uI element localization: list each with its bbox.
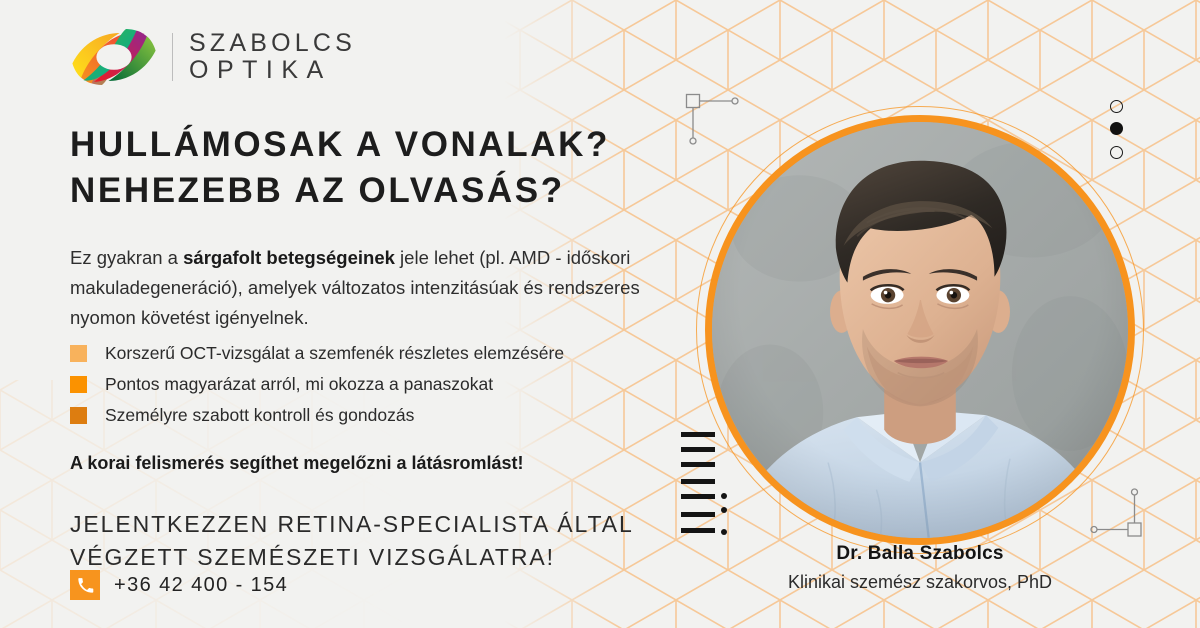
bullet-square-icon: [70, 407, 87, 424]
cta-line-2: VÉGZETT SZEMÉSZETI VIZSGÁLATRA!: [70, 541, 690, 574]
intro-text-bold: sárgafolt betegségeinek: [183, 247, 395, 268]
headline: HULLÁMOSAK A VONALAK? NEHEZEBB AZ OLVASÁ…: [70, 122, 690, 213]
list-item-label: Személyre szabott kontroll és gondozás: [105, 405, 414, 426]
list-item: Pontos magyarázat arról, mi okozza a pan…: [70, 371, 670, 397]
decorative-bar: [681, 447, 715, 452]
decorative-dot: [721, 493, 727, 499]
benefit-list: Korszerű OCT-vizsgálat a szemfenék részl…: [70, 340, 670, 433]
doctor-title: Klinikai szemész szakorvos, PhD: [705, 572, 1135, 593]
decorative-bracket-bottom: [1085, 485, 1145, 541]
logo-line-optika: OPTIKA: [189, 58, 356, 84]
banner-canvas: SZABOLCS OPTIKA HULLÁMOSAK A VONALAK? NE…: [0, 0, 1200, 628]
rainbow-eye-logo-icon: [70, 28, 158, 86]
brand-logo[interactable]: SZABOLCS OPTIKA: [70, 28, 356, 86]
decorative-circle-outline: [1110, 100, 1123, 113]
decorative-dot: [721, 507, 727, 513]
doctor-portrait: [705, 115, 1135, 545]
decorative-bar: [681, 494, 715, 499]
decorative-circle-filled: [1110, 122, 1123, 135]
early-detection-note: A korai felismerés segíthet megelőzni a …: [70, 453, 524, 474]
list-item-label: Pontos magyarázat arról, mi okozza a pan…: [105, 374, 493, 395]
headline-line-2: NEHEZEBB AZ OLVASÁS?: [70, 168, 690, 214]
headline-line-1: HULLÁMOSAK A VONALAK?: [70, 122, 690, 168]
list-item: Személyre szabott kontroll és gondozás: [70, 402, 670, 428]
list-item: Korszerű OCT-vizsgálat a szemfenék részl…: [70, 340, 670, 366]
decorative-circle-outline: [1110, 146, 1123, 159]
bullet-square-icon: [70, 376, 87, 393]
decorative-bar: [681, 432, 715, 437]
doctor-name: Dr. Balla Szabolcs: [705, 543, 1135, 565]
phone-handset-icon: [70, 570, 100, 600]
bullet-square-icon: [70, 345, 87, 362]
list-item-label: Korszerű OCT-vizsgálat a szemfenék részl…: [105, 343, 564, 364]
doctor-portrait-photo: [712, 122, 1128, 538]
decorative-bar: [681, 479, 715, 484]
intro-text-part1: Ez gyakran a: [70, 247, 183, 268]
cta-line-1: JELENTKEZZEN RETINA-SPECIALISTA ÁLTAL: [70, 508, 690, 541]
decorative-bar: [681, 512, 715, 517]
decorative-circles: [1110, 100, 1130, 168]
intro-paragraph: Ez gyakran a sárgafolt betegségeinek jel…: [70, 243, 650, 333]
phone-contact[interactable]: +36 42 400 - 154: [70, 570, 288, 600]
logo-line-szabolcs: SZABOLCS: [189, 31, 356, 57]
decorative-bar: [681, 528, 715, 533]
call-to-action: JELENTKEZZEN RETINA-SPECIALISTA ÁLTAL VÉ…: [70, 508, 690, 573]
decorative-dot: [721, 529, 727, 535]
logo-divider: [172, 33, 173, 81]
phone-number-label: +36 42 400 - 154: [114, 574, 288, 597]
doctor-caption: Dr. Balla Szabolcs Klinikai szemész szak…: [705, 543, 1135, 593]
decorative-bar: [681, 462, 715, 467]
decorative-bars-dots: [679, 430, 739, 540]
logo-wordmark: SZABOLCS OPTIKA: [189, 31, 356, 84]
decorative-bracket-top: [684, 92, 744, 148]
